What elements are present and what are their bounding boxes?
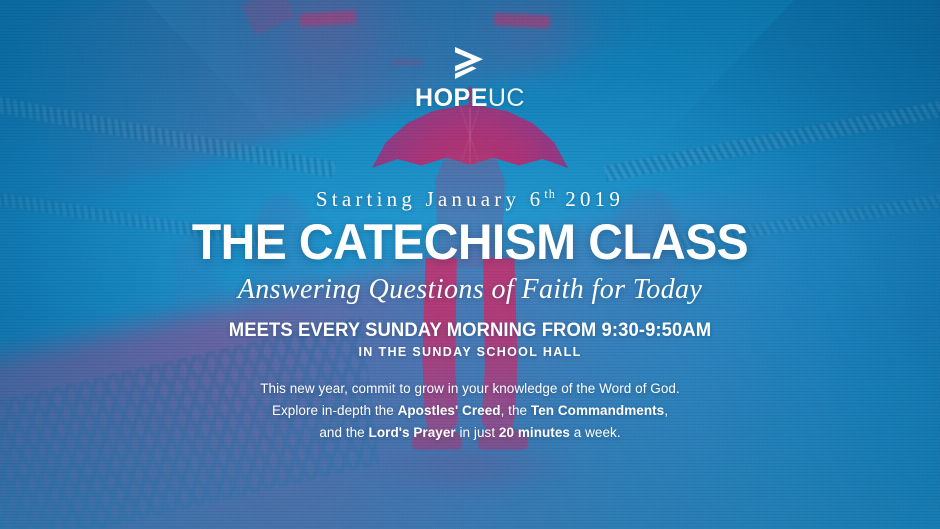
description-text: Explore in-depth the — [272, 403, 398, 418]
lords-prayer-emphasis: Lord's Prayer — [369, 425, 456, 440]
logo-wordmark: HOPEUC — [415, 86, 525, 111]
hopeuc-logo: HOPEUC — [415, 46, 525, 111]
description-line-1: This new year, commit to grow in your kn… — [0, 378, 940, 400]
start-date-prefix: Starting January 6 — [316, 187, 544, 211]
start-date-ordinal: th — [544, 187, 555, 201]
chevron-right-double-icon — [449, 46, 491, 80]
description-line-3: and the Lord's Prayer in just 20 minutes… — [0, 422, 940, 444]
description-line-2: Explore in-depth the Apostles' Creed, th… — [0, 400, 940, 422]
duration-emphasis: 20 minutes — [499, 425, 570, 440]
logo-word-primary: HOPE — [415, 84, 488, 112]
meeting-time: MEETS EVERY SUNDAY MORNING FROM 9:30-9:5… — [14, 320, 926, 342]
venue-label: IN THE SUNDAY SCHOOL HALL — [0, 345, 940, 359]
ten-commandments-emphasis: Ten Commandments — [531, 403, 664, 418]
headline-stack: Starting January 6th 2019 THE CATECHISM … — [0, 188, 940, 359]
description-text: , the — [501, 403, 531, 418]
description-text: a week. — [570, 425, 621, 440]
description-text: in just — [456, 425, 499, 440]
start-date: Starting January 6th 2019 — [0, 188, 940, 211]
description-paragraph: This new year, commit to grow in your kn… — [0, 378, 940, 444]
apostles-creed-emphasis: Apostles' Creed — [398, 403, 501, 418]
page-subtitle: Answering Questions of Faith for Today — [0, 275, 940, 306]
poster-content: HOPEUC Starting January 6th 2019 THE CAT… — [0, 0, 940, 529]
promotional-poster: HOPEUC Starting January 6th 2019 THE CAT… — [0, 0, 940, 529]
page-title: THE CATECHISM CLASS — [19, 217, 921, 267]
logo-word-secondary: UC — [488, 84, 525, 112]
description-text: , — [664, 403, 668, 418]
start-date-year: 2019 — [565, 187, 624, 211]
description-text: and the — [319, 425, 368, 440]
